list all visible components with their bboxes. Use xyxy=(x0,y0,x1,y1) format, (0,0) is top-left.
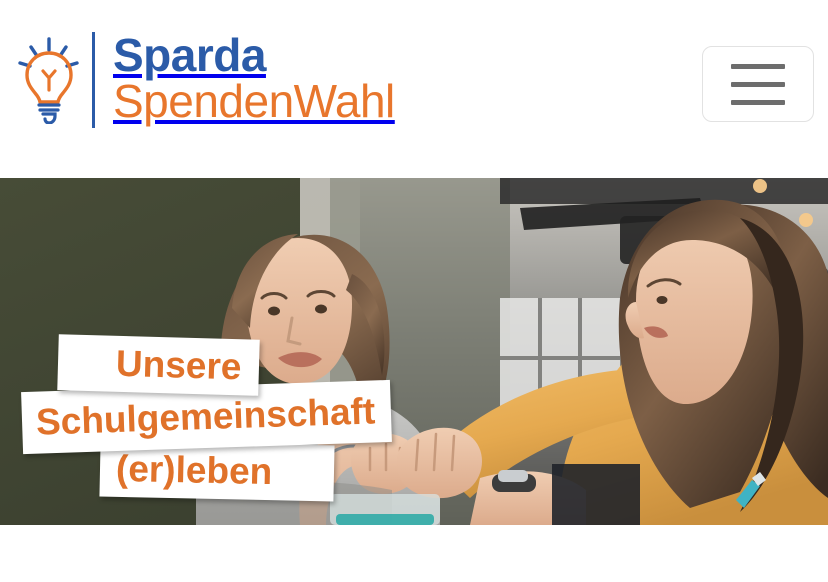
hamburger-menu-button[interactable] xyxy=(702,46,814,122)
brand-line-sparda: Sparda xyxy=(113,32,395,80)
site-header: Sparda SpendenWahl xyxy=(0,0,828,178)
hero-banner-line-1: Unsere xyxy=(57,334,260,396)
brand-logo-link[interactable]: Sparda SpendenWahl xyxy=(18,28,395,132)
hamburger-bar-top xyxy=(731,64,785,69)
brand-divider xyxy=(92,32,95,128)
brand-wordmark: Sparda SpendenWahl xyxy=(113,32,395,128)
page-root: Sparda SpendenWahl xyxy=(0,0,828,582)
brand-line-spendenwahl: SpendenWahl xyxy=(113,78,395,128)
hero-banner: Unsere Schulgemeinschaft (er)leben xyxy=(0,178,828,525)
lightbulb-icon xyxy=(18,36,80,124)
hamburger-bar-bottom xyxy=(731,100,785,105)
hamburger-bar-middle xyxy=(731,82,785,87)
page-content-area xyxy=(0,525,828,582)
